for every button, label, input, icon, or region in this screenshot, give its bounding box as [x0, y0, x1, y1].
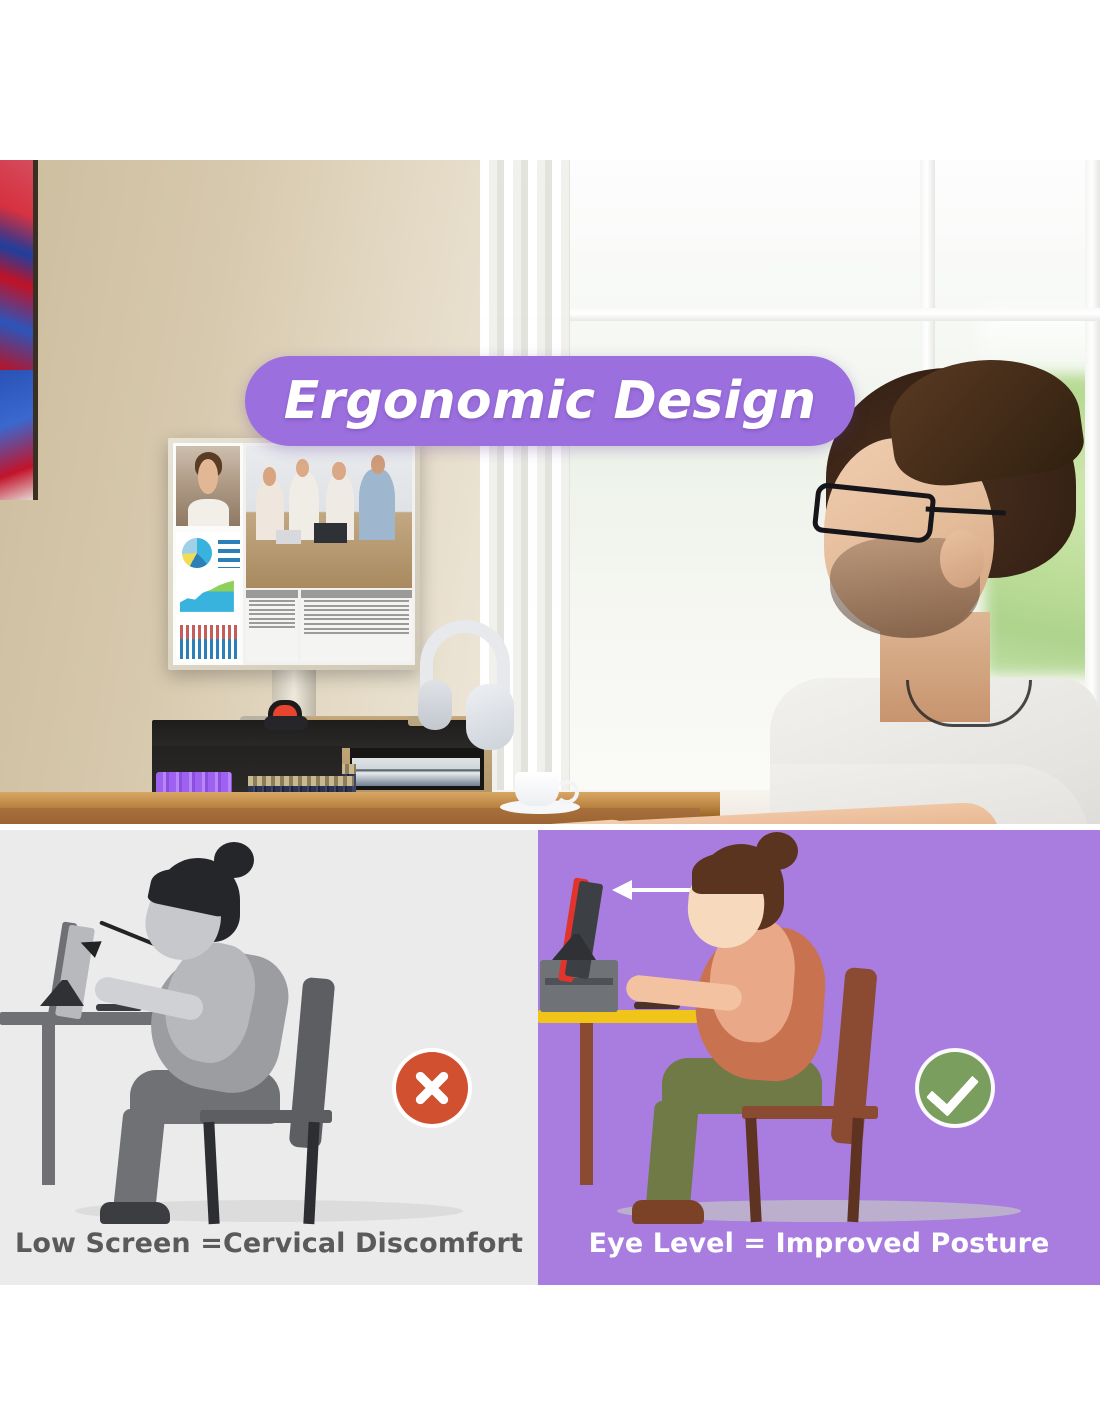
window-mullion-horizontal [480, 308, 1100, 321]
chat-panel [301, 590, 412, 662]
list-item [249, 604, 294, 606]
person-shoe [100, 1202, 170, 1224]
video-feed [246, 446, 412, 588]
headline-banner: Ergonomic Design [245, 356, 855, 446]
arrow-head-icon [612, 880, 632, 900]
column-chart-icon [180, 625, 238, 659]
chat-line [304, 632, 409, 634]
bar-chart-icon [218, 540, 240, 568]
chat-line [304, 605, 409, 607]
check-mark-badge [919, 1052, 991, 1124]
caption-bad: Low Screen =Cervical Discomfort [0, 1228, 538, 1259]
desk-leg [580, 1023, 593, 1185]
webcam-person-face [198, 459, 219, 494]
screen-charts-panel [176, 532, 240, 662]
hero-photo: Ergonomic Design [0, 160, 1100, 824]
list-item [249, 613, 294, 615]
caption-good: Eye Level = Improved Posture [538, 1228, 1100, 1259]
list-item [249, 618, 294, 620]
webcam-person-body [188, 499, 229, 526]
wall-art-left [0, 160, 38, 370]
notebooks [352, 758, 480, 786]
person-ear [940, 530, 984, 588]
chat-line [304, 614, 409, 616]
chat-line [304, 609, 409, 611]
participants-list [246, 598, 297, 633]
chat-line [304, 623, 409, 625]
screen-lists [246, 590, 412, 662]
area-chart-icon [180, 578, 234, 612]
wall-art-left-lower [0, 370, 38, 500]
chat-line [304, 600, 409, 602]
video-person [359, 469, 395, 540]
monitor [168, 438, 420, 670]
chat-line [304, 628, 409, 630]
headphones-earcup-right [466, 684, 514, 750]
screen-sidebar [173, 443, 243, 665]
list-item [249, 609, 294, 611]
coffee-cup [515, 772, 559, 806]
video-person-head [332, 462, 345, 480]
screen-main [243, 443, 415, 665]
illustration-good [538, 830, 1100, 1250]
earbuds-case [264, 700, 308, 730]
list-item [249, 600, 294, 602]
participants-panel [246, 590, 297, 662]
webcam-thumbnail [176, 446, 240, 526]
headline-text: Ergonomic Design [284, 371, 816, 431]
person-fringe [692, 852, 772, 894]
list-item [249, 626, 294, 628]
product-marketing-image: Ergonomic Design [0, 0, 1100, 1422]
video-person-head [263, 467, 276, 485]
panel-good-posture: Eye Level = Improved Posture [538, 830, 1100, 1285]
list-item [249, 622, 294, 624]
chat-log [301, 598, 412, 639]
pie-chart-icon [182, 538, 212, 568]
earbuds-case-base [264, 716, 308, 730]
illustration-bad [0, 830, 538, 1250]
video-laptop [314, 523, 347, 543]
participants-header [246, 590, 297, 598]
monitor-screen [173, 443, 415, 665]
video-laptop [276, 530, 301, 544]
desk-leg [42, 1025, 55, 1185]
chat-line [304, 618, 409, 620]
coffee-cup-handle [555, 780, 579, 804]
person-shoe [632, 1200, 704, 1224]
chat-header [301, 590, 412, 598]
headphones-earcup-left [418, 680, 452, 730]
x-mark-badge [396, 1052, 468, 1124]
person-hair-bun [214, 842, 254, 878]
panel-bad-posture: Low Screen =Cervical Discomfort [0, 830, 538, 1285]
check-icon [926, 1062, 979, 1116]
